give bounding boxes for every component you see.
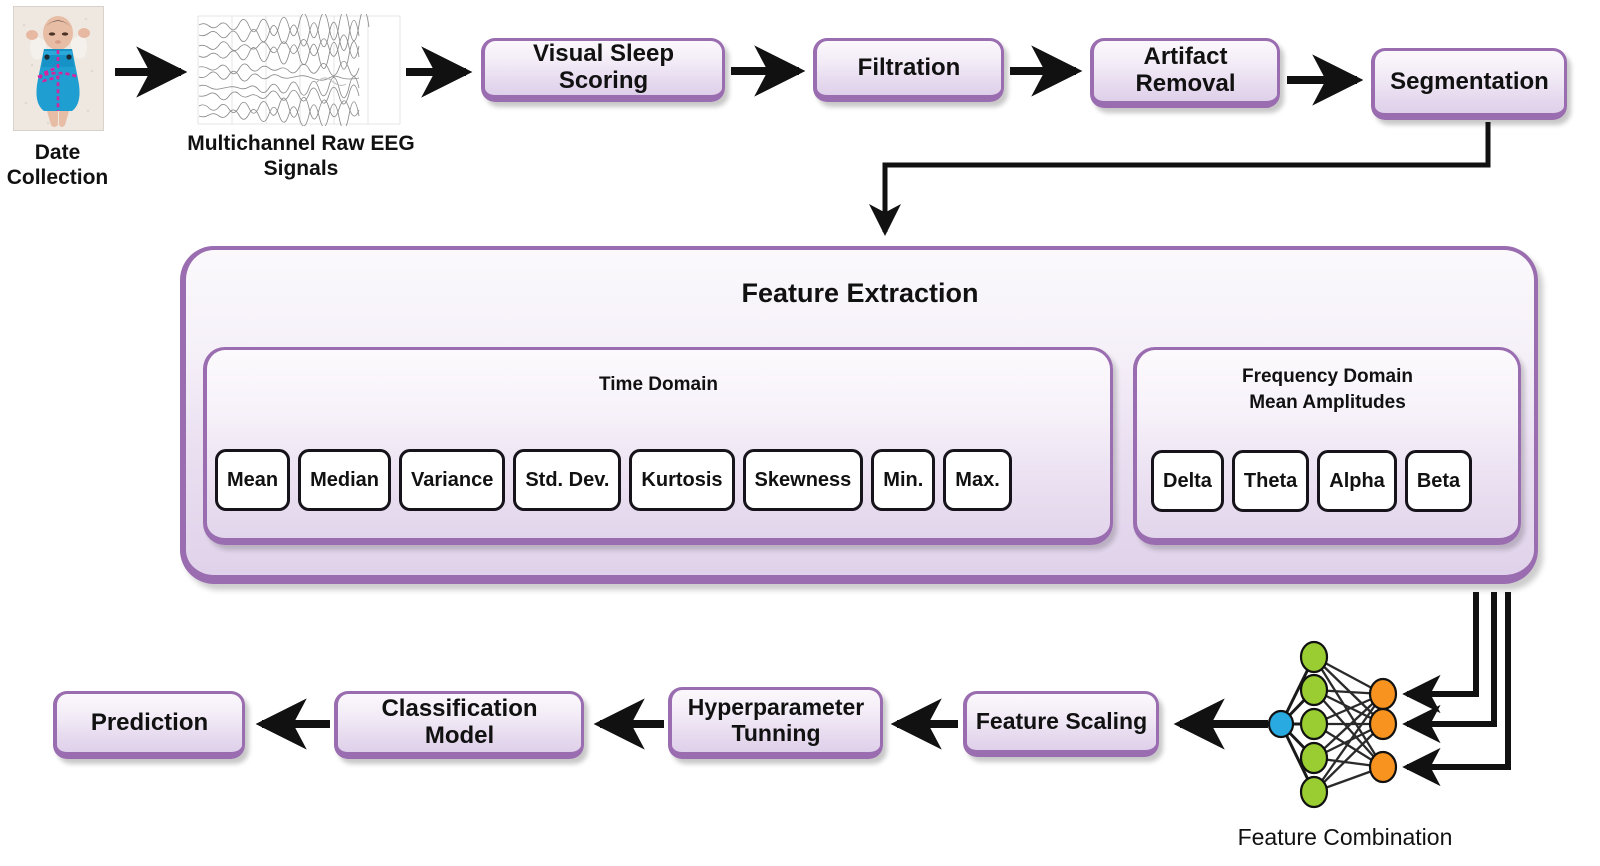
time-domain-title: Time Domain [207,372,1110,398]
feature-chip-theta[interactable]: Theta [1232,450,1309,512]
subject-photo [13,6,104,131]
process-box-classification-model-label: Classification Model [338,696,581,750]
arrow-features-to-node-3 [1407,592,1508,767]
arrow-segmentation-to-feature-extraction [885,122,1488,232]
process-box-prediction[interactable]: Prediction [53,691,245,759]
frequency-domain-feature-list: Delta Theta Alpha Beta [1151,450,1472,512]
process-box-hyperparameter-tunning-label-line1: Hyperparameter [680,695,872,721]
process-box-filtration-label: Filtration [850,55,969,82]
feature-chip-alpha[interactable]: Alpha [1317,450,1397,512]
feature-chip-median[interactable]: Median [298,449,391,511]
feature-chip-delta[interactable]: Delta [1151,450,1224,512]
network-node-output-2 [1370,709,1396,739]
feature-chip-beta[interactable]: Beta [1405,450,1472,512]
network-node-hidden-2 [1301,675,1327,705]
network-node-hidden-1 [1301,642,1327,672]
process-box-segmentation[interactable]: Segmentation [1371,48,1567,120]
frequency-domain-title-line2: Mean Amplitudes [1137,390,1518,416]
arrow-features-to-node-1 [1407,592,1476,694]
frequency-domain-panel: Frequency Domain Mean Amplitudes [1133,347,1521,545]
eeg-caption-line2: Signals [160,156,442,181]
process-box-visual-sleep-scoring-label: Visual Sleep Scoring [485,41,722,95]
network-caption: Feature Combination [1200,824,1490,852]
network-node-hidden-3 [1301,709,1327,739]
feature-chip-min[interactable]: Min. [871,449,935,511]
process-box-hyperparameter-tunning-label-line2: Tunning [680,721,872,747]
process-box-hyperparameter-tunning[interactable]: Hyperparameter Tunning [668,687,883,759]
feature-chip-kurtosis[interactable]: Kurtosis [629,449,734,511]
eeg-caption-line1: Multichannel Raw EEG [160,131,442,156]
process-box-feature-scaling[interactable]: Feature Scaling [963,691,1159,757]
raw-eeg-signal-thumbnail [196,14,402,126]
process-box-classification-model[interactable]: Classification Model [334,691,584,759]
network-node-hidden-5 [1301,777,1327,807]
process-box-artifact-removal-label: Artifact Removal [1094,44,1277,98]
feature-chip-mean[interactable]: Mean [215,449,290,511]
feature-extraction-title: Feature Extraction [186,278,1534,309]
process-box-prediction-label: Prediction [83,710,216,737]
network-node-hidden-4 [1301,743,1327,773]
network-node-output-3 [1370,752,1396,782]
process-box-artifact-removal[interactable]: Artifact Removal [1090,38,1280,108]
process-box-segmentation-label: Segmentation [1382,69,1557,96]
frequency-domain-title: Frequency Domain Mean Amplitudes [1137,364,1518,415]
feature-chip-skewness[interactable]: Skewness [743,449,864,511]
photo-caption-line1: Date [0,140,115,165]
network-caption-label: Feature Combination [1238,824,1453,850]
feature-chip-variance[interactable]: Variance [399,449,505,511]
network-node-input [1269,711,1293,737]
time-domain-panel: Time Domain [203,347,1113,545]
feature-chip-max[interactable]: Max. [943,449,1011,511]
feature-chip-std-dev[interactable]: Std. Dev. [513,449,621,511]
process-box-filtration[interactable]: Filtration [813,38,1004,102]
pipeline-diagram: Date Collection Multichannel Raw EEG Sig… [0,0,1600,866]
frequency-domain-title-line1: Frequency Domain [1137,364,1518,390]
network-node-output-1 [1370,679,1396,709]
process-box-visual-sleep-scoring[interactable]: Visual Sleep Scoring [481,38,725,102]
eeg-caption: Multichannel Raw EEG Signals [160,131,442,181]
photo-caption-line2: Collection [0,165,115,190]
arrow-features-to-node-2 [1407,592,1494,724]
time-domain-feature-list: Mean Median Variance Std. Dev. Kurtosis … [215,449,1012,511]
process-box-feature-scaling-label: Feature Scaling [968,709,1155,735]
photo-caption: Date Collection [0,140,115,190]
